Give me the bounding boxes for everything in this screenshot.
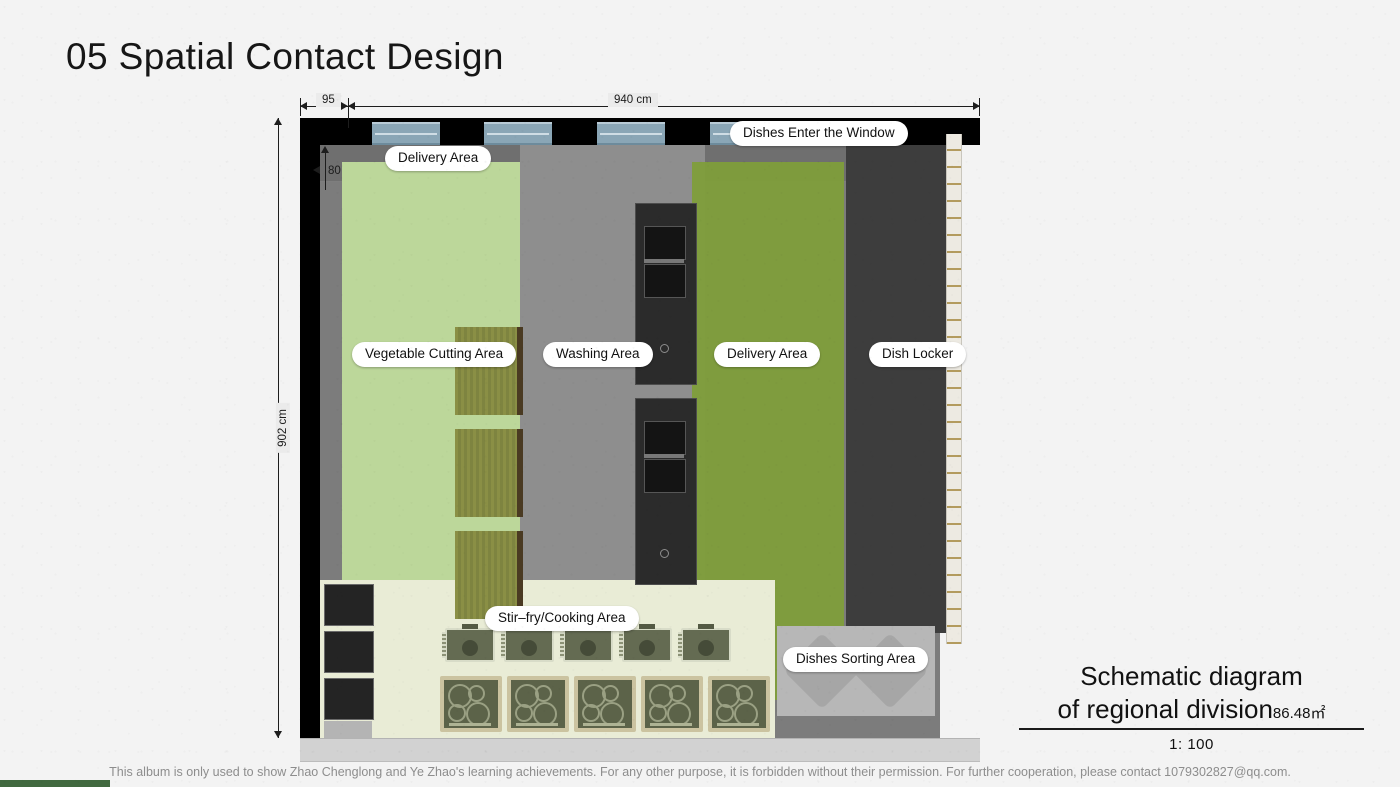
- wok-burner-unit: [445, 628, 495, 662]
- stove-handle: [516, 723, 558, 726]
- label-dishes-sorting-area[interactable]: Dishes Sorting Area: [783, 647, 928, 672]
- wok-burner-unit: [681, 628, 731, 662]
- burner-ring-icon: [602, 685, 619, 702]
- wok-rail: [501, 632, 505, 658]
- dimension-line-940: [348, 106, 980, 107]
- footer-disclaimer: This album is only used to show Zhao Che…: [0, 765, 1400, 779]
- burner-icon: [580, 640, 596, 656]
- dimension-label-95: 95: [316, 93, 341, 107]
- prep-counter: [455, 429, 523, 517]
- kitchen-cabinet-unit: [324, 678, 374, 720]
- stove-unit: [708, 676, 770, 732]
- washing-station: [635, 398, 697, 585]
- wok-rail: [619, 632, 623, 658]
- stove-handle: [583, 723, 625, 726]
- prep-counter: [455, 327, 523, 415]
- kitchen-cabinet-unit: [324, 631, 374, 673]
- sink-basin: [644, 421, 686, 455]
- floor-plan: 95 940 cm 902 cm 80: [280, 118, 980, 760]
- label-dish-locker[interactable]: Dish Locker: [869, 342, 966, 367]
- label-vegetable-cutting-area[interactable]: Vegetable Cutting Area: [352, 342, 516, 367]
- label-dishes-enter-the-window[interactable]: Dishes Enter the Window: [730, 121, 908, 146]
- burner-ring-icon: [736, 685, 753, 702]
- label-delivery-area-top[interactable]: Delivery Area: [385, 146, 491, 171]
- label-washing-area[interactable]: Washing Area: [543, 342, 653, 367]
- label-delivery-area-right[interactable]: Delivery Area: [714, 342, 820, 367]
- sink-divider: [644, 259, 684, 263]
- sink-divider: [644, 454, 684, 458]
- wok-burner-unit: [504, 628, 554, 662]
- burner-ring-icon: [582, 704, 600, 722]
- wok-rail: [442, 632, 446, 658]
- wok-burner-unit: [622, 628, 672, 662]
- burner-icon: [639, 640, 655, 656]
- burner-ring-icon: [515, 704, 533, 722]
- dimension-arrow-902-top: [274, 118, 282, 125]
- caption-scale: 1: 100: [1019, 736, 1364, 753]
- wok-burner-unit: [563, 628, 613, 662]
- drain-icon: [660, 549, 669, 558]
- dimension-arrow-80-side: [313, 166, 320, 174]
- page-title: 05 Spatial Contact Design: [66, 36, 504, 78]
- wok-rail: [678, 632, 682, 658]
- dimension-arrow-95-left: [300, 102, 307, 110]
- sink-basin: [644, 264, 686, 298]
- stove-unit: [641, 676, 703, 732]
- sink-basin: [644, 459, 686, 493]
- footer-accent-bar: [0, 780, 110, 787]
- burner-icon: [462, 640, 478, 656]
- sink-basin: [644, 226, 686, 260]
- window-segment: [372, 122, 440, 145]
- stove-handle: [717, 723, 759, 726]
- left-wall-counter: [324, 721, 372, 738]
- caption-block: Schematic diagram of regional division86…: [1019, 660, 1364, 753]
- burner-ring-icon: [535, 685, 552, 702]
- burner-ring-icon: [448, 704, 466, 722]
- stove-handle: [650, 723, 692, 726]
- wall-left: [300, 118, 320, 738]
- caption-rule: [1019, 728, 1364, 730]
- shelf-rack-icon: [946, 134, 962, 644]
- burner-ring-icon: [716, 704, 734, 722]
- stove-unit: [574, 676, 636, 732]
- zone-dish-locker[interactable]: [846, 145, 952, 633]
- label-stir-fry-cooking-area[interactable]: Stir–fry/Cooking Area: [485, 606, 639, 631]
- caption-line-1: Schematic diagram: [1019, 660, 1364, 693]
- burner-icon: [521, 640, 537, 656]
- dimension-arrow-902-bottom: [274, 731, 282, 738]
- window-segment: [484, 122, 552, 145]
- stove-unit: [507, 676, 569, 732]
- dimension-arrow-80-top: [321, 146, 329, 153]
- burner-icon: [698, 640, 714, 656]
- burner-ring-icon: [649, 704, 667, 722]
- caption-area: 86.48㎡: [1273, 705, 1326, 722]
- dimension-label-940: 940 cm: [608, 93, 658, 107]
- wok-rail: [560, 632, 564, 658]
- window-segment: [597, 122, 665, 145]
- caption-line-2: of regional division86.48㎡: [1019, 693, 1364, 726]
- dimension-arrow-940-right: [973, 102, 980, 110]
- dimension-label-80: 80: [322, 164, 347, 178]
- dimension-arrow-95-right: [341, 102, 348, 110]
- dimension-label-902: 902 cm: [276, 403, 290, 453]
- dimension-arrow-940-left: [348, 102, 355, 110]
- kitchen-cabinet-unit: [324, 584, 374, 626]
- wall-bottom: [300, 738, 980, 762]
- burner-ring-icon: [669, 685, 686, 702]
- stove-handle: [449, 723, 491, 726]
- burner-ring-icon: [468, 685, 485, 702]
- stove-unit: [440, 676, 502, 732]
- caption-line-2-text: of regional division: [1058, 694, 1273, 724]
- drain-icon: [660, 344, 669, 353]
